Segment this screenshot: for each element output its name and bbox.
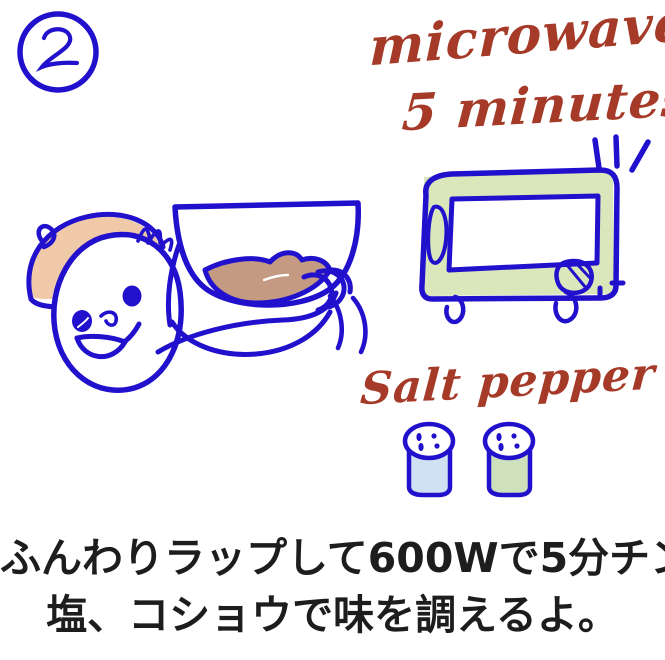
head-outline (54, 234, 181, 390)
illustration-canvas: microwave 5 minutes Salt pepper ふんわりラップし… (0, 0, 665, 660)
salt-shaker-cap (405, 424, 453, 458)
chef-face-with-beret (29, 214, 181, 390)
microwave-motion-lines (595, 137, 648, 170)
salt-shaker (405, 424, 453, 495)
minutes-handwriting: 5 minutes (400, 73, 665, 138)
pepper-shaker (485, 424, 533, 495)
step-number-badge (20, 14, 96, 90)
microwave-oven (422, 170, 623, 322)
caption-line-2: 塩、コショウで味を調えるよ。 (0, 581, 665, 641)
right-eye (123, 286, 142, 307)
motion-arcs (330, 296, 365, 352)
caption-line-1: ふんわりラップして600Wで5分チンし、 (0, 524, 665, 584)
left-eye (72, 310, 92, 332)
pepper-shaker-cap (485, 424, 533, 458)
